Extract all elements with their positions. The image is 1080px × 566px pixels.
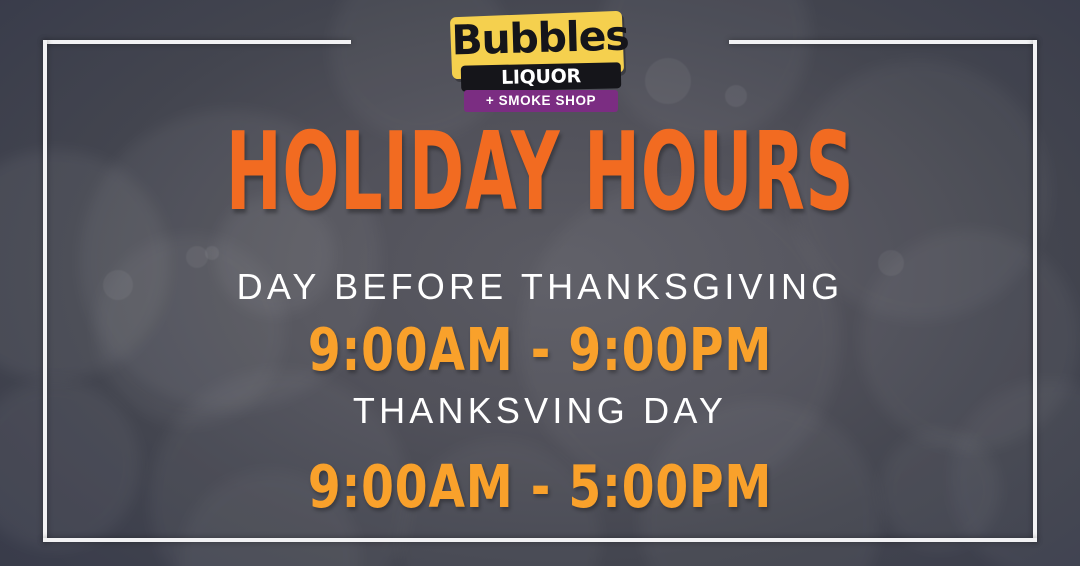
bubble-shape [205,246,219,260]
frame-top-right-segment [729,40,1037,44]
hours-time-value: 9:00AM - 5:00PM [108,457,972,516]
bubble-shape [645,58,691,104]
logo-brand-text: Bubbles [446,15,633,61]
hours-day-label: DAY BEFORE THANKSGIVING [0,269,1080,305]
hours-day-label: THANKSVING DAY [0,393,1080,429]
frame-bottom-segment [43,538,1037,542]
hours-time-value: 9:00AM - 9:00PM [108,320,972,379]
logo-subtitle-text: LIQUOR WORLD [461,63,622,92]
page-title: HOLIDAY HOURS [205,119,875,227]
logo-tagline-text: + SMOKE SHOP [464,90,618,112]
bubble-shape [725,85,747,107]
frame-top-left-segment [43,40,351,44]
bubbles-logo: Bubbles LIQUOR WORLD + SMOKE SHOP [447,10,633,112]
holiday-hours-poster: Bubbles LIQUOR WORLD + SMOKE SHOP HOLIDA… [0,0,1080,566]
